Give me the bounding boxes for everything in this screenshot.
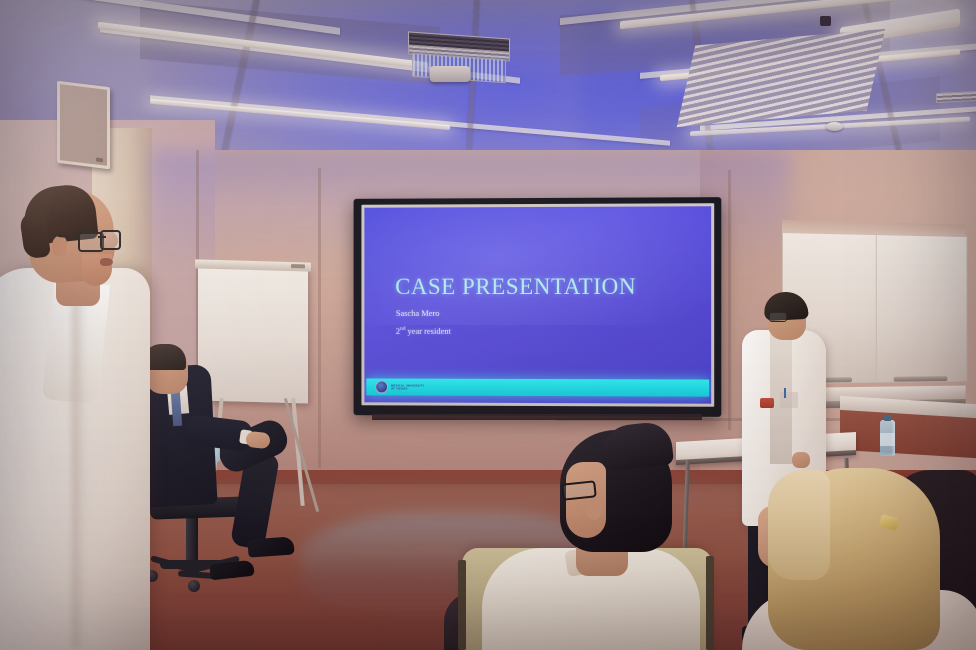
flipchart-clamp-knob <box>291 264 305 268</box>
water-bottle-cap <box>884 415 891 421</box>
audience-ear <box>586 498 602 520</box>
right-desk-front <box>840 410 976 458</box>
observer-eyeglasses-bridge <box>98 236 106 238</box>
presenter-badge <box>760 398 774 408</box>
projector <box>430 66 470 82</box>
speaker-badge <box>96 158 103 163</box>
observer-eyeglasses-lens-icon <box>100 230 121 250</box>
office-chair-post <box>186 516 198 564</box>
flipchart-clamp <box>195 259 311 271</box>
presenter-coat-pocket <box>780 392 798 408</box>
presentation-slide: CASE PRESENTATION Sascha Mero 2nd year r… <box>364 206 711 403</box>
observer-ear <box>52 236 67 257</box>
university-seal-logo-icon <box>375 380 388 393</box>
observer-mouth <box>100 258 113 266</box>
cabinet-handle-right[interactable] <box>894 376 948 381</box>
seated-man-hand <box>245 431 271 449</box>
wall-seam <box>728 170 731 430</box>
wall-seam <box>318 168 321 468</box>
screen-base-shadow <box>372 414 702 420</box>
wall-speaker <box>57 81 110 170</box>
projection-screen: CASE PRESENTATION Sascha Mero 2nd year r… <box>354 197 722 417</box>
cabinet-door-right[interactable] <box>876 234 968 383</box>
water-bottle-label <box>880 433 895 446</box>
audience-eyeglasses-icon <box>561 480 597 500</box>
flipchart-easel <box>198 264 308 403</box>
audience-chair-frame <box>458 560 466 650</box>
slide-footer-logo-text: MEDICAL UNIVERSITY OF VIENNA <box>391 384 424 390</box>
lecture-room-photo: CASE PRESENTATION Sascha Mero 2nd year r… <box>0 0 976 650</box>
water-bottle <box>880 420 895 456</box>
slide-role-suffix: year resident <box>405 325 450 335</box>
ceiling-speaker <box>820 16 831 26</box>
presenter-eyeglasses-icon <box>769 312 787 322</box>
seated-man-shoe <box>247 536 294 557</box>
smoke-detector <box>826 122 843 131</box>
slide-presenter-name: Sascha Mero <box>396 308 440 318</box>
slide-footer-bar: MEDICAL UNIVERSITY OF VIENNA <box>366 378 709 396</box>
presenter-hand <box>792 452 810 468</box>
slide-presenter-role: 2nd year resident <box>396 325 451 335</box>
audience-chair-frame <box>706 556 714 650</box>
office-chair-wheel <box>188 580 200 592</box>
presenter-pen <box>784 388 786 398</box>
slide-title: CASE PRESENTATION <box>395 273 636 299</box>
observer-coat-fold <box>72 300 86 648</box>
blonde-hair-front <box>768 470 830 580</box>
screen-inner-border: CASE PRESENTATION Sascha Mero 2nd year r… <box>361 203 714 407</box>
air-vent-grille <box>936 91 976 103</box>
